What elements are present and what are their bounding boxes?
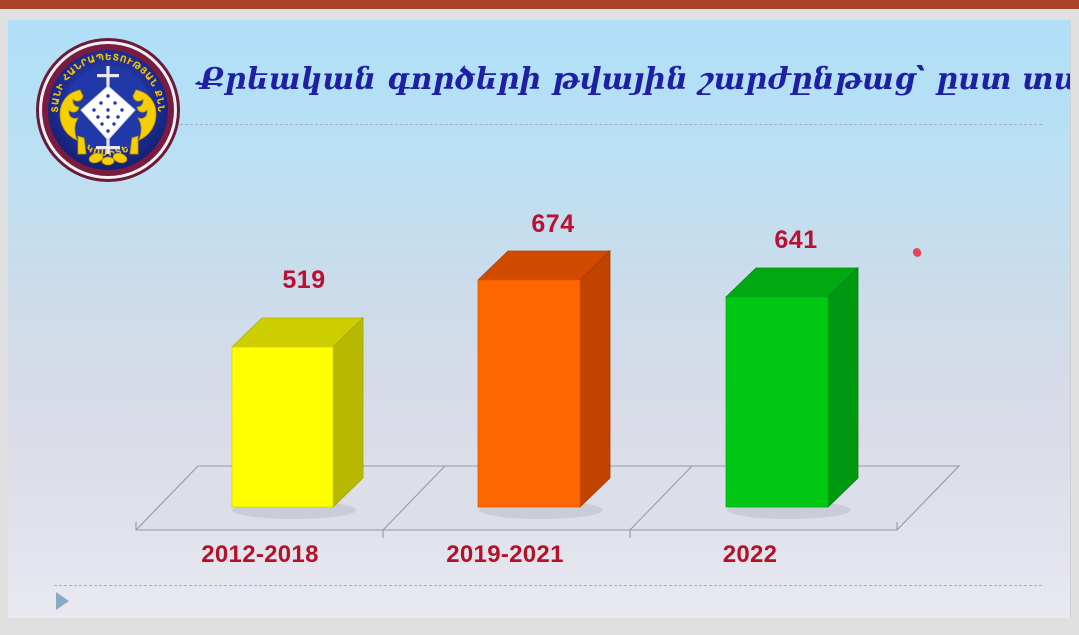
page-title: Քրեական գործերի թվային շարժընթաց՝ ըստ տա… [198,60,1028,100]
app-title-bar [0,0,1079,9]
bar-value-label: 641 [736,226,856,255]
play-triangle-icon[interactable] [56,592,69,610]
category-label: 2012-2018 [140,541,380,569]
slide-right-edge [1070,20,1071,618]
investigative-committee-seal-icon: ՀԱՅԱՍՏԱՆԻ ՀԱՆՐԱՊԵՏՈՒԹՅԱՆ ՔՆՆՉԱԿԱՆ ԿՈՄԻՏԵ [34,36,182,184]
category-label: 2022 [630,541,870,569]
bar-2022 [726,268,858,519]
bar-value-label: 519 [244,266,364,295]
title-divider [180,124,1042,125]
bar-2019-2021 [478,251,610,519]
bar-2012-2018 [232,318,363,519]
slide-canvas[interactable]: ՀԱՅԱՍՏԱՆԻ ՀԱՆՐԱՊԵՏՈՒԹՅԱՆ ՔՆՆՉԱԿԱՆ ԿՈՄԻՏԵ [8,20,1071,618]
bar-value-label: 674 [493,210,613,239]
window-gutter [0,9,1079,20]
presentation-window: ՀԱՅԱՍՏԱՆԻ ՀԱՆՐԱՊԵՏՈՒԹՅԱՆ ՔՆՆՉԱԿԱՆ ԿՈՄԻՏԵ [0,0,1079,635]
category-label: 2019-2021 [385,541,625,569]
